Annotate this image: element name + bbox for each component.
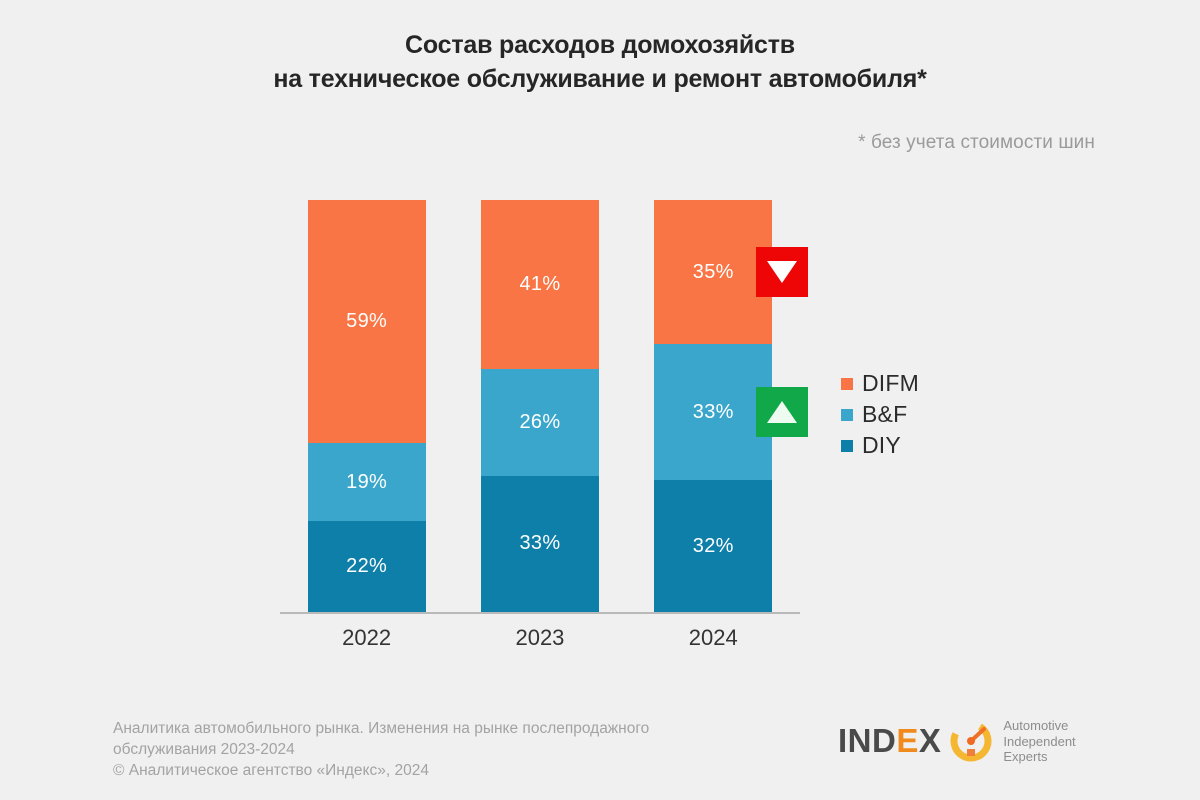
logo-tagline: Automotive Independent Experts [1003, 718, 1075, 765]
x-axis-label-2022: 2022 [280, 625, 453, 651]
bar-segment-diy-2023[interactable]: 33% [481, 476, 599, 612]
legend-label-bf: B&F [862, 401, 907, 428]
gauge-circle-icon [949, 719, 993, 763]
logo-word-part-a: IND [838, 722, 896, 759]
bar-label-diy-2022: 22% [346, 555, 387, 578]
triangle-down-icon [767, 261, 797, 283]
bar-group: 59% 19% 22% 41% 26% 33% [280, 200, 800, 612]
footer-line-3: © Аналитическое агентство «Индекс», 2024 [113, 760, 649, 781]
footer-line-2: обслуживания 2023-2024 [113, 739, 649, 760]
bar-segment-bf-2023[interactable]: 26% [481, 369, 599, 476]
logo-tagline-line-1: Automotive [1003, 718, 1075, 734]
bar-slot-2023: 41% 26% 33% [453, 200, 626, 612]
square-swatch-icon [841, 440, 853, 452]
bar-label-diy-2023: 33% [519, 532, 560, 555]
logo-word-accent: E [896, 722, 919, 759]
increase-badge-bf-2024[interactable] [756, 387, 808, 437]
bar-slot-2022: 59% 19% 22% [280, 200, 453, 612]
footer-line-1: Аналитика автомобильного рынка. Изменени… [113, 718, 649, 739]
bar-segment-difm-2024[interactable]: 35% [654, 200, 772, 344]
bar-stack-2023[interactable]: 41% 26% 33% [481, 200, 599, 612]
bar-slot-2024: 35% 33% 32% [627, 200, 800, 612]
bar-segment-diy-2024[interactable]: 32% [654, 480, 772, 612]
footnote-note: * без учета стоимости шин [858, 132, 1095, 154]
logo-tagline-line-3: Experts [1003, 749, 1075, 765]
bar-label-bf-2022: 19% [346, 471, 387, 494]
bar-stack-2024[interactable]: 35% 33% 32% [654, 200, 772, 612]
page-title-line-2: на техническое обслуживание и ремонт авт… [0, 62, 1200, 96]
x-axis-line [280, 612, 800, 614]
bar-label-difm-2024: 35% [693, 261, 734, 284]
logo-tagline-line-2: Independent [1003, 734, 1075, 750]
decrease-badge-difm-2024[interactable] [756, 247, 808, 297]
legend-label-difm: DIFM [862, 370, 919, 397]
bar-segment-difm-2022[interactable]: 59% [308, 200, 426, 443]
bar-label-bf-2024: 33% [693, 401, 734, 424]
square-swatch-icon [841, 409, 853, 421]
index-logo[interactable]: INDEX Automotive Independent Experts [838, 718, 1076, 765]
bar-label-difm-2022: 59% [346, 310, 387, 333]
page-title: Состав расходов домохозяйств на техничес… [0, 28, 1200, 96]
bar-segment-bf-2024[interactable]: 33% [654, 344, 772, 480]
footer-source: Аналитика автомобильного рынка. Изменени… [113, 718, 649, 781]
bar-segment-bf-2022[interactable]: 19% [308, 443, 426, 521]
triangle-up-icon [767, 401, 797, 423]
stacked-bar-chart: 59% 19% 22% 41% 26% 33% [280, 200, 800, 614]
bar-label-bf-2023: 26% [519, 411, 560, 434]
logo-word-part-b: X [919, 722, 942, 759]
bar-segment-diy-2022[interactable]: 22% [308, 521, 426, 612]
legend-item-bf[interactable]: B&F [841, 399, 919, 430]
legend-item-difm[interactable]: DIFM [841, 368, 919, 399]
bar-stack-2022[interactable]: 59% 19% 22% [308, 200, 426, 612]
bar-label-difm-2023: 41% [519, 273, 560, 296]
legend-item-diy[interactable]: DIY [841, 430, 919, 461]
chart-legend: DIFM B&F DIY [841, 368, 919, 461]
legend-label-diy: DIY [862, 432, 901, 459]
x-axis-label-2023: 2023 [453, 625, 626, 651]
bar-segment-difm-2023[interactable]: 41% [481, 200, 599, 369]
x-axis-label-2024: 2024 [627, 625, 800, 651]
bar-label-diy-2024: 32% [693, 535, 734, 558]
x-axis-labels: 2022 2023 2024 [280, 625, 800, 651]
logo-wordmark: INDEX [838, 722, 941, 760]
square-swatch-icon [841, 378, 853, 390]
page-title-line-1: Состав расходов домохозяйств [0, 28, 1200, 62]
